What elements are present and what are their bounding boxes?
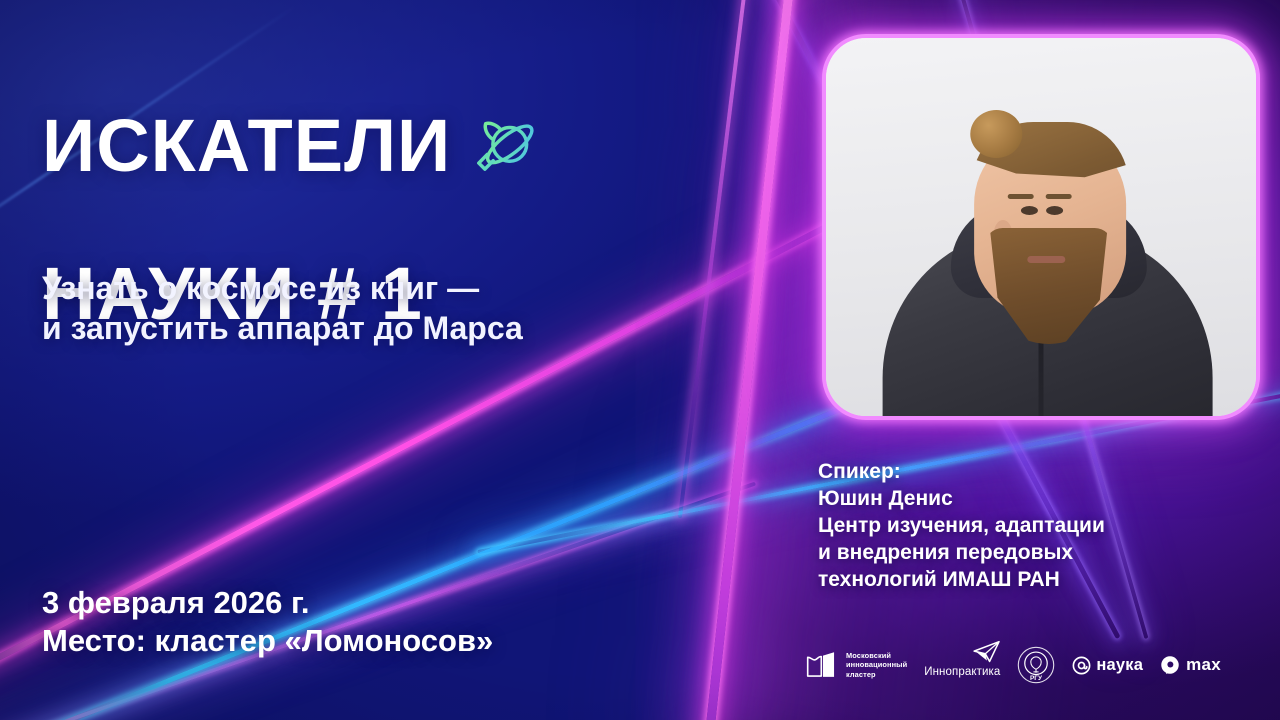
portrait-lip — [1027, 256, 1065, 263]
rocket-planet-icon — [467, 114, 539, 186]
logo-moscow-innovation-cluster[interactable]: Московский инновационный кластер — [806, 650, 907, 680]
paper-plane-icon — [972, 640, 1002, 664]
speaker-photo-image — [826, 38, 1256, 416]
logo-innopraktika[interactable]: Иннопрактика — [924, 652, 1000, 678]
speaker-info: Спикер: Юшин Денис Центр изучения, адапт… — [818, 458, 1270, 593]
logo-max[interactable]: max — [1160, 655, 1221, 675]
event-date-venue: 3 февраля 2026 г. Место: кластер «Ломоно… — [42, 584, 742, 661]
speaker-photo — [822, 34, 1260, 420]
partner-logo-row: Московский инновационный кластер Иннопра… — [806, 640, 1268, 690]
max-bubble-icon — [1160, 655, 1180, 675]
at-icon — [1072, 656, 1091, 675]
logo-nauka[interactable]: наука — [1072, 656, 1143, 675]
portrait-eye-right — [1046, 206, 1063, 215]
portrait-eye-left — [1021, 206, 1038, 215]
portrait-hair-bun — [970, 110, 1022, 158]
mik-monogram-icon — [806, 650, 840, 680]
nauka-label: наука — [1096, 656, 1143, 675]
logo-rgu-seal[interactable]: РГУ — [1017, 646, 1055, 684]
max-label: max — [1186, 655, 1221, 675]
portrait-brow-left — [1008, 194, 1034, 199]
mik-label: Московский инновационный кластер — [846, 651, 907, 678]
portrait-brow-right — [1046, 194, 1072, 199]
left-content-column: ИСКАТЕЛИ — [42, 0, 742, 720]
poster-canvas: ИСКАТЕЛИ — [0, 0, 1280, 720]
svg-text:РГУ: РГУ — [1030, 675, 1043, 682]
title-line-1: ИСКАТЕЛИ — [42, 110, 451, 182]
poster-subtitle: Узнать о космосе из книг — и запустить а… — [42, 268, 722, 349]
rgu-seal-icon: РГУ — [1017, 646, 1055, 684]
innopraktika-label: Иннопрактика — [924, 666, 1000, 678]
